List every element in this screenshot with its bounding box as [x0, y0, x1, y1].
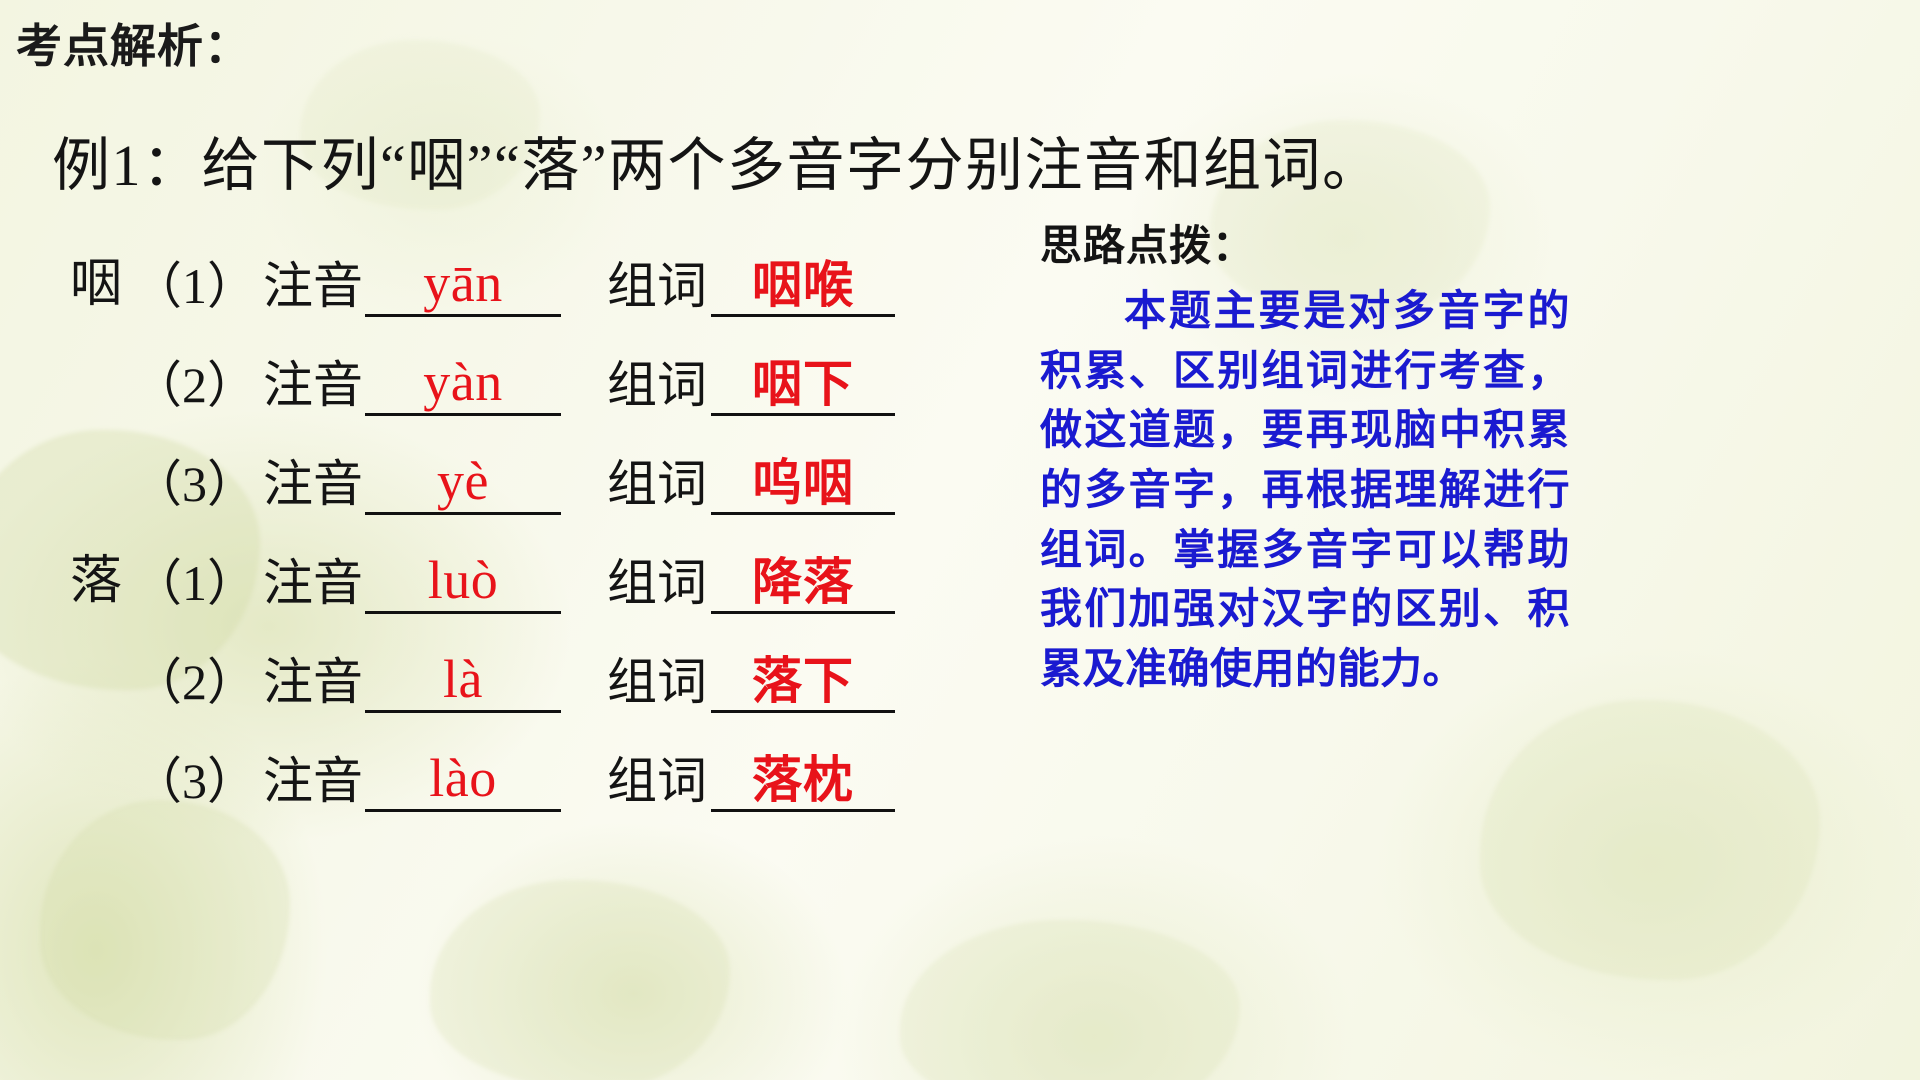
word-blank[interactable]: 落枕 [711, 755, 895, 812]
hint-title: 思路点拨： [1040, 212, 1570, 273]
word-blank[interactable]: 咽喉 [711, 260, 895, 317]
watermark-leaf-4 [900, 920, 1240, 1080]
word-blank[interactable]: 落下 [711, 656, 895, 713]
word-answer: 落枕 [711, 755, 895, 809]
word-answer: 咽下 [711, 359, 895, 413]
answer-row: （2） 注音 là 组词 落下 [60, 614, 1020, 713]
zhuyin-label: 注音 [257, 360, 363, 416]
pinyin-blank[interactable]: là [365, 652, 561, 713]
hint-panel: 思路点拨： 本题主要是对多音字的积累、区别组词进行考查，做这道题，要再现脑中积累… [1040, 212, 1570, 698]
word-answer: 落下 [711, 656, 895, 710]
zhuyin-label: 注音 [257, 558, 363, 614]
item-number: （2） [132, 657, 257, 713]
pinyin-answer: yān [365, 256, 561, 314]
pinyin-answer: luò [365, 553, 561, 611]
zhuyin-label: 注音 [257, 756, 363, 812]
pinyin-answer: là [365, 652, 561, 710]
hint-body: 本题主要是对多音字的积累、区别组词进行考查，做这道题，要再现脑中积累的多音字，再… [1040, 281, 1570, 698]
answer-row: 落 （1） 注音 luò 组词 降落 [60, 515, 1020, 614]
pinyin-answer: yàn [365, 355, 561, 413]
zuci-label: 组词 [601, 360, 707, 416]
section-title: 考点解析： [16, 10, 251, 76]
answer-row: （2） 注音 yàn 组词 咽下 [60, 317, 1020, 416]
word-blank[interactable]: 降落 [711, 557, 895, 614]
polyphone-head-char [60, 806, 132, 812]
pinyin-blank[interactable]: yān [365, 256, 561, 317]
zuci-label: 组词 [601, 459, 707, 515]
word-answer: 咽喉 [711, 260, 895, 314]
item-number: （2） [132, 360, 257, 416]
zhuyin-label: 注音 [257, 657, 363, 713]
word-blank[interactable]: 呜咽 [711, 458, 895, 515]
zuci-label: 组词 [601, 756, 707, 812]
item-number: （3） [132, 459, 257, 515]
polyphone-head-char: 咽 [60, 259, 132, 317]
slide-canvas: 考点解析： 例1：给下列“咽”“落”两个多音字分别注音和组词。 咽 （1） 注音… [0, 0, 1920, 1080]
answer-row: （3） 注音 lào 组词 落枕 [60, 713, 1020, 812]
word-answer: 降落 [711, 557, 895, 611]
zhuyin-label: 注音 [257, 459, 363, 515]
answer-list: 咽 （1） 注音 yān 组词 咽喉 （2） 注音 yàn 组词 咽下 [60, 218, 1020, 812]
zuci-label: 组词 [601, 261, 707, 317]
watermark-leaf-3 [430, 880, 730, 1080]
zhuyin-label: 注音 [257, 261, 363, 317]
example-question: 例1：给下列“咽”“落”两个多音字分别注音和组词。 [52, 118, 1381, 202]
word-blank[interactable]: 咽下 [711, 359, 895, 416]
word-answer: 呜咽 [711, 458, 895, 512]
watermark-leaf-5 [1480, 700, 1820, 980]
zuci-label: 组词 [601, 657, 707, 713]
watermark-leaf-2 [40, 800, 290, 1040]
pinyin-blank[interactable]: lào [365, 751, 561, 812]
pinyin-answer: lào [365, 751, 561, 809]
item-number: （1） [132, 558, 257, 614]
pinyin-blank[interactable]: luò [365, 553, 561, 614]
answer-row: （3） 注音 yè 组词 呜咽 [60, 416, 1020, 515]
pinyin-blank[interactable]: yè [365, 454, 561, 515]
pinyin-answer: yè [365, 454, 561, 512]
answer-row: 咽 （1） 注音 yān 组词 咽喉 [60, 218, 1020, 317]
zuci-label: 组词 [601, 558, 707, 614]
pinyin-blank[interactable]: yàn [365, 355, 561, 416]
item-number: （3） [132, 756, 257, 812]
polyphone-head-char: 落 [60, 556, 132, 614]
item-number: （1） [132, 261, 257, 317]
